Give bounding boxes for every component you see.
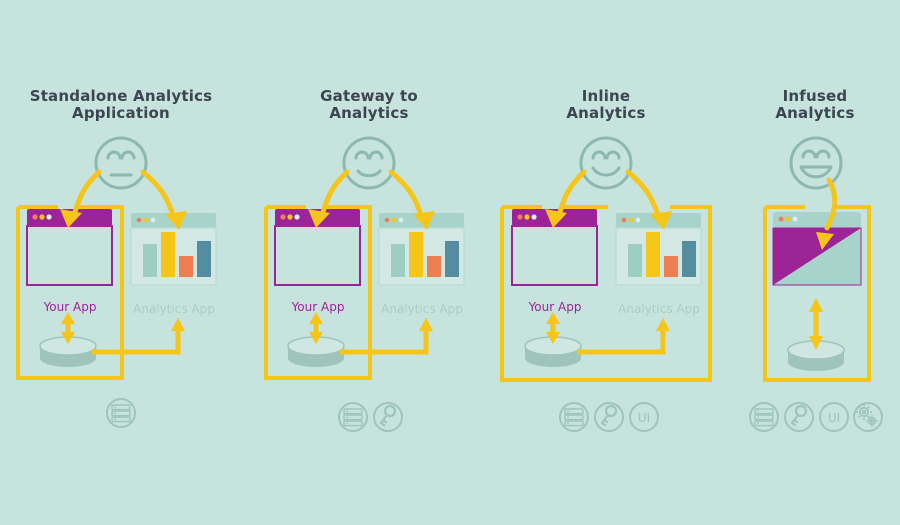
capability-icons-standalone [107,399,135,427]
server-icon [750,403,778,431]
window-dot-max [151,218,156,223]
window-dot-min [786,217,791,222]
bar-3 [664,256,678,277]
analytics-app-window-gateway[interactable] [379,213,464,285]
window-dot-close [385,218,390,223]
db-to-analytics-path-inline [577,318,670,352]
capability-icons-gateway [339,403,402,431]
capability-icons-inline: UI [560,403,658,431]
bar-1 [143,244,157,277]
your-app-label-gateway: Your App [266,300,370,314]
analytics-app-label-gateway: Analytics App [370,302,474,316]
window-dot-max [636,218,641,223]
user-face-gateway [344,138,394,188]
window-dot-close [517,214,522,219]
ui-icon: UI [820,403,848,431]
bar-2 [646,232,660,277]
bar-4 [197,241,211,277]
column-infused: UI [750,138,882,431]
infused-app-window[interactable] [773,212,861,285]
window-dot-min [524,214,529,219]
analytics-app-label-standalone: Analytics App [122,302,226,316]
server-icon [107,399,135,427]
db-to-analytics-path-standalone [92,318,185,352]
your-app-label-inline: Your App [503,300,607,314]
db-to-analytics-path-gateway [340,318,433,352]
capability-icons-infused: UI [750,403,882,431]
bar-1 [628,244,642,277]
bar-3 [179,256,193,277]
window-dot-max [399,218,404,223]
ui-icon: UI [630,403,658,431]
user-face-inline [581,138,631,188]
window-dot-max [294,214,299,219]
window-dot-close [280,214,285,219]
window-dot-max [46,214,51,219]
window-dot-min [39,214,44,219]
column-gateway [266,138,464,431]
window-dot-close [32,214,37,219]
server-icon [339,403,367,431]
window-dot-max [531,214,536,219]
bar-2 [161,232,175,277]
analytics-app-window-standalone[interactable] [131,213,216,285]
analytics-app-window-inline[interactable] [616,213,701,285]
ui-icon-label: UI [638,411,650,425]
key-icon [595,403,623,431]
your-app-label-standalone: Your App [18,300,122,314]
column-standalone [18,138,216,427]
window-dot-min [144,218,149,223]
window-dot-close [622,218,627,223]
server-icon [560,403,588,431]
window-dot-close [137,218,142,223]
bar-3 [427,256,441,277]
window-dot-min [629,218,634,223]
diagram-canvas: Standalone Analytics Application Gateway… [0,0,900,525]
ui-icon-label: UI [828,411,840,425]
gears-icon [854,403,882,431]
diagram-artwork: UI [0,0,900,525]
window-dot-min [392,218,397,223]
window-dot-close [779,217,784,222]
bar-4 [445,241,459,277]
key-icon [785,403,813,431]
user-face-infused [791,138,841,188]
bar-1 [391,244,405,277]
user-face-standalone [96,138,146,188]
window-dot-max [793,217,798,222]
key-icon [374,403,402,431]
analytics-app-label-inline: Analytics App [607,302,711,316]
bar-2 [409,232,423,277]
bar-4 [682,241,696,277]
window-dot-min [287,214,292,219]
column-inline: UI [502,138,710,431]
